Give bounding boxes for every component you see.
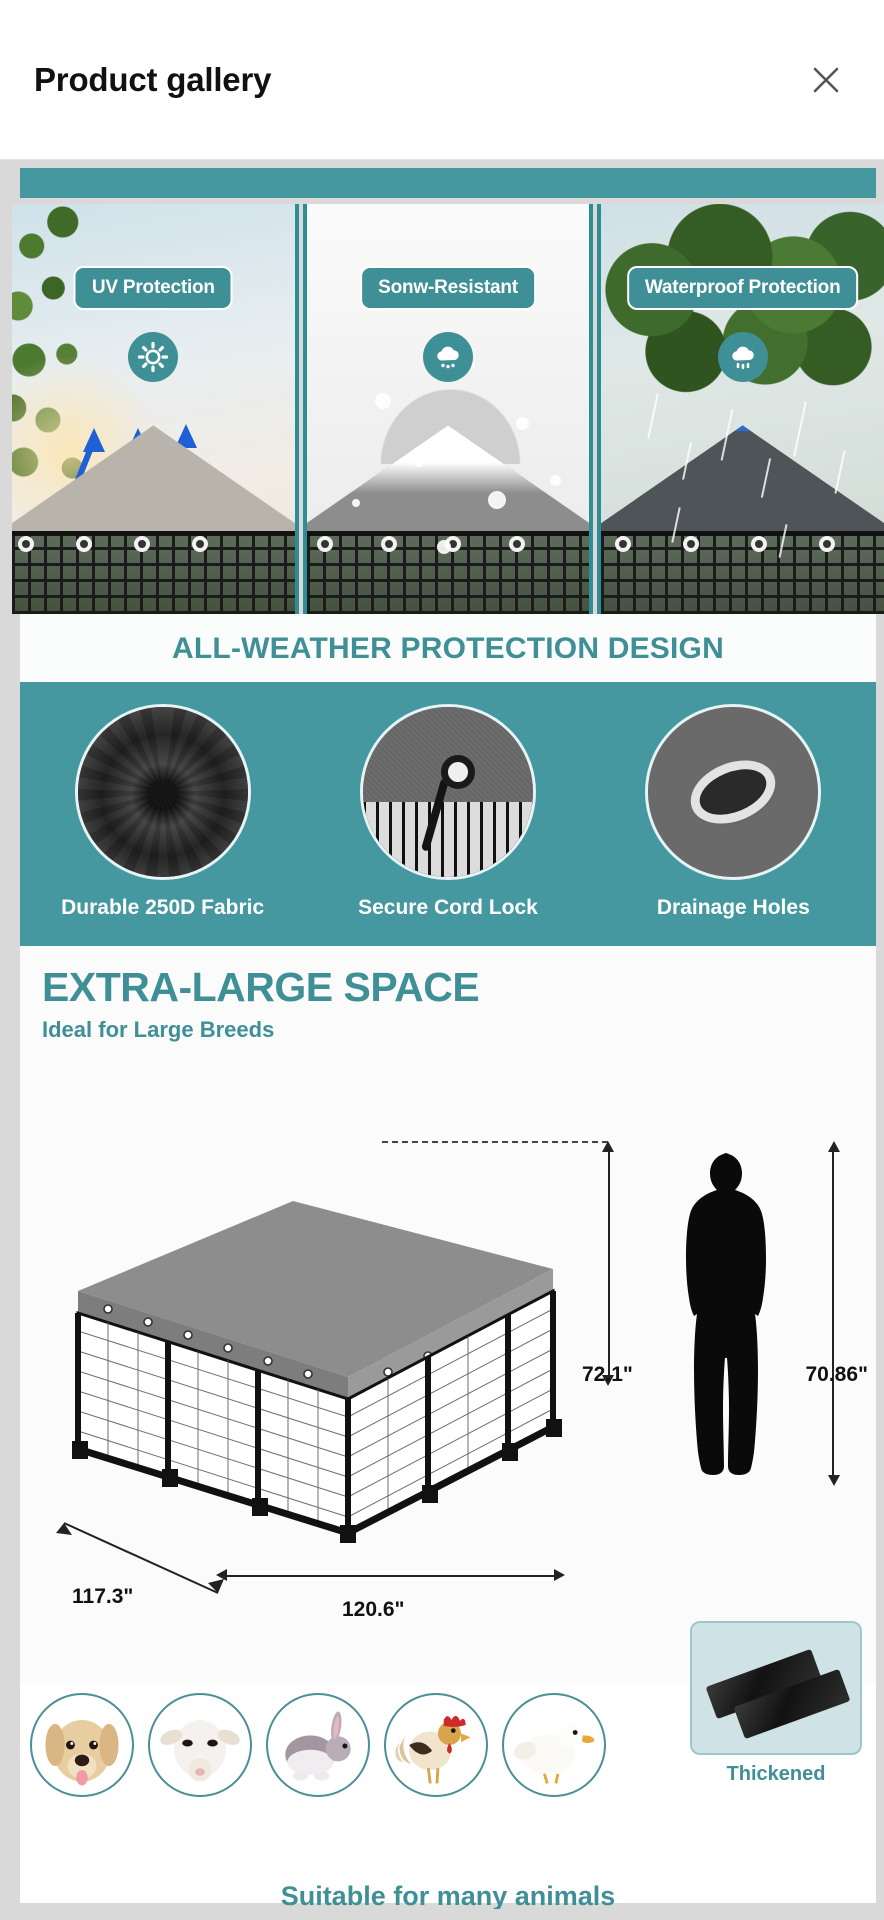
kennel-roof-uv bbox=[12, 425, 295, 614]
page-title: Product gallery bbox=[34, 61, 271, 99]
roof-blue-trim bbox=[597, 425, 884, 534]
roof-eyelet bbox=[192, 536, 208, 552]
weather-panel-uv: UV Protection bbox=[12, 204, 299, 614]
snow-cloud-icon bbox=[423, 332, 473, 382]
duck-image bbox=[502, 1693, 606, 1797]
weather-badge-waterproof: Waterproof Protection bbox=[627, 266, 859, 310]
dim-arrow bbox=[216, 1569, 227, 1581]
kennel-fence bbox=[12, 531, 295, 614]
cord-lock-image bbox=[360, 704, 536, 880]
sun-icon bbox=[128, 332, 178, 382]
dimension-depth: 117.3" bbox=[72, 1585, 133, 1609]
dimension-kennel-height: 72.1" bbox=[582, 1363, 633, 1387]
dim-arrow bbox=[602, 1141, 614, 1152]
weather-badge-uv: UV Protection bbox=[74, 266, 233, 310]
drainage-hole-image bbox=[645, 704, 821, 880]
sheep-image bbox=[148, 1693, 252, 1797]
weather-panels: UV Protection bbox=[12, 204, 884, 614]
dimension-diagram: 72.1" 70.86" 117.3" bbox=[42, 1063, 876, 1683]
roof-eyelet bbox=[18, 536, 34, 552]
weather-panel-snow: Sonw-Resistant bbox=[303, 204, 594, 614]
feature-label: Secure Cord Lock bbox=[311, 896, 585, 920]
roof-eyelet bbox=[317, 536, 333, 552]
kennel-fence bbox=[601, 531, 884, 614]
space-section: EXTRA-LARGE SPACE Ideal for Large Breeds bbox=[20, 946, 876, 1683]
close-icon bbox=[809, 63, 843, 97]
suitable-caption: Suitable for many animals bbox=[20, 1881, 876, 1909]
thickened-card: Thickened bbox=[690, 1621, 862, 1786]
feature-cord-lock: Secure Cord Lock bbox=[311, 704, 585, 920]
roof-eyelet bbox=[381, 536, 397, 552]
dim-arrow bbox=[828, 1141, 840, 1152]
dimension-width: 120.6" bbox=[342, 1598, 405, 1622]
weather-panel-waterproof: Waterproof Protection bbox=[597, 204, 884, 614]
space-title: EXTRA-LARGE SPACE bbox=[42, 966, 876, 1009]
feature-label: Drainage Holes bbox=[596, 896, 870, 920]
kennel-3d-drawing bbox=[48, 1141, 578, 1561]
weather-top-bar bbox=[20, 168, 876, 198]
weather-badge-snow: Sonw-Resistant bbox=[360, 266, 536, 310]
feature-drainage: Drainage Holes bbox=[596, 704, 870, 920]
kennel-roof-snow bbox=[307, 425, 590, 614]
space-subtitle: Ideal for Large Breeds bbox=[42, 1017, 876, 1043]
gallery-header: Product gallery bbox=[0, 0, 884, 160]
fabric-swirl-image bbox=[75, 704, 251, 880]
roof-eyelet bbox=[134, 536, 150, 552]
rain-cloud-icon bbox=[718, 332, 768, 382]
rooster-image bbox=[384, 1693, 488, 1797]
thickened-label: Thickened bbox=[690, 1763, 862, 1786]
rabbit-image bbox=[266, 1693, 370, 1797]
feature-fabric: Durable 250D Fabric bbox=[26, 704, 300, 920]
roof-eyelet bbox=[76, 536, 92, 552]
dog-image bbox=[30, 1693, 134, 1797]
product-infographic-sheet: UV Protection bbox=[12, 160, 884, 1903]
dim-arrow bbox=[828, 1475, 840, 1486]
width-dimension-line bbox=[224, 1575, 560, 1577]
steel-tube-image bbox=[690, 1621, 862, 1755]
person-height-line bbox=[832, 1151, 834, 1481]
animals-section: Thickened Suitable for many animals bbox=[20, 1683, 876, 1903]
kennel-roof-rain bbox=[601, 425, 884, 614]
close-button[interactable] bbox=[802, 56, 850, 104]
features-section: Durable 250D Fabric Secure Cord Lock bbox=[20, 682, 876, 946]
kennel-height-line bbox=[608, 1151, 610, 1381]
feature-label: Durable 250D Fabric bbox=[26, 896, 300, 920]
person-silhouette bbox=[670, 1149, 790, 1479]
all-weather-title: ALL-WEATHER PROTECTION DESIGN bbox=[20, 614, 876, 682]
roof-eyelet bbox=[509, 536, 525, 552]
roof-panel bbox=[12, 425, 299, 534]
tree-background bbox=[601, 204, 884, 442]
gallery-scroll-area[interactable]: UV Protection bbox=[0, 160, 884, 1920]
dim-arrow bbox=[554, 1569, 565, 1581]
dimension-person-height: 70.86" bbox=[805, 1363, 868, 1387]
